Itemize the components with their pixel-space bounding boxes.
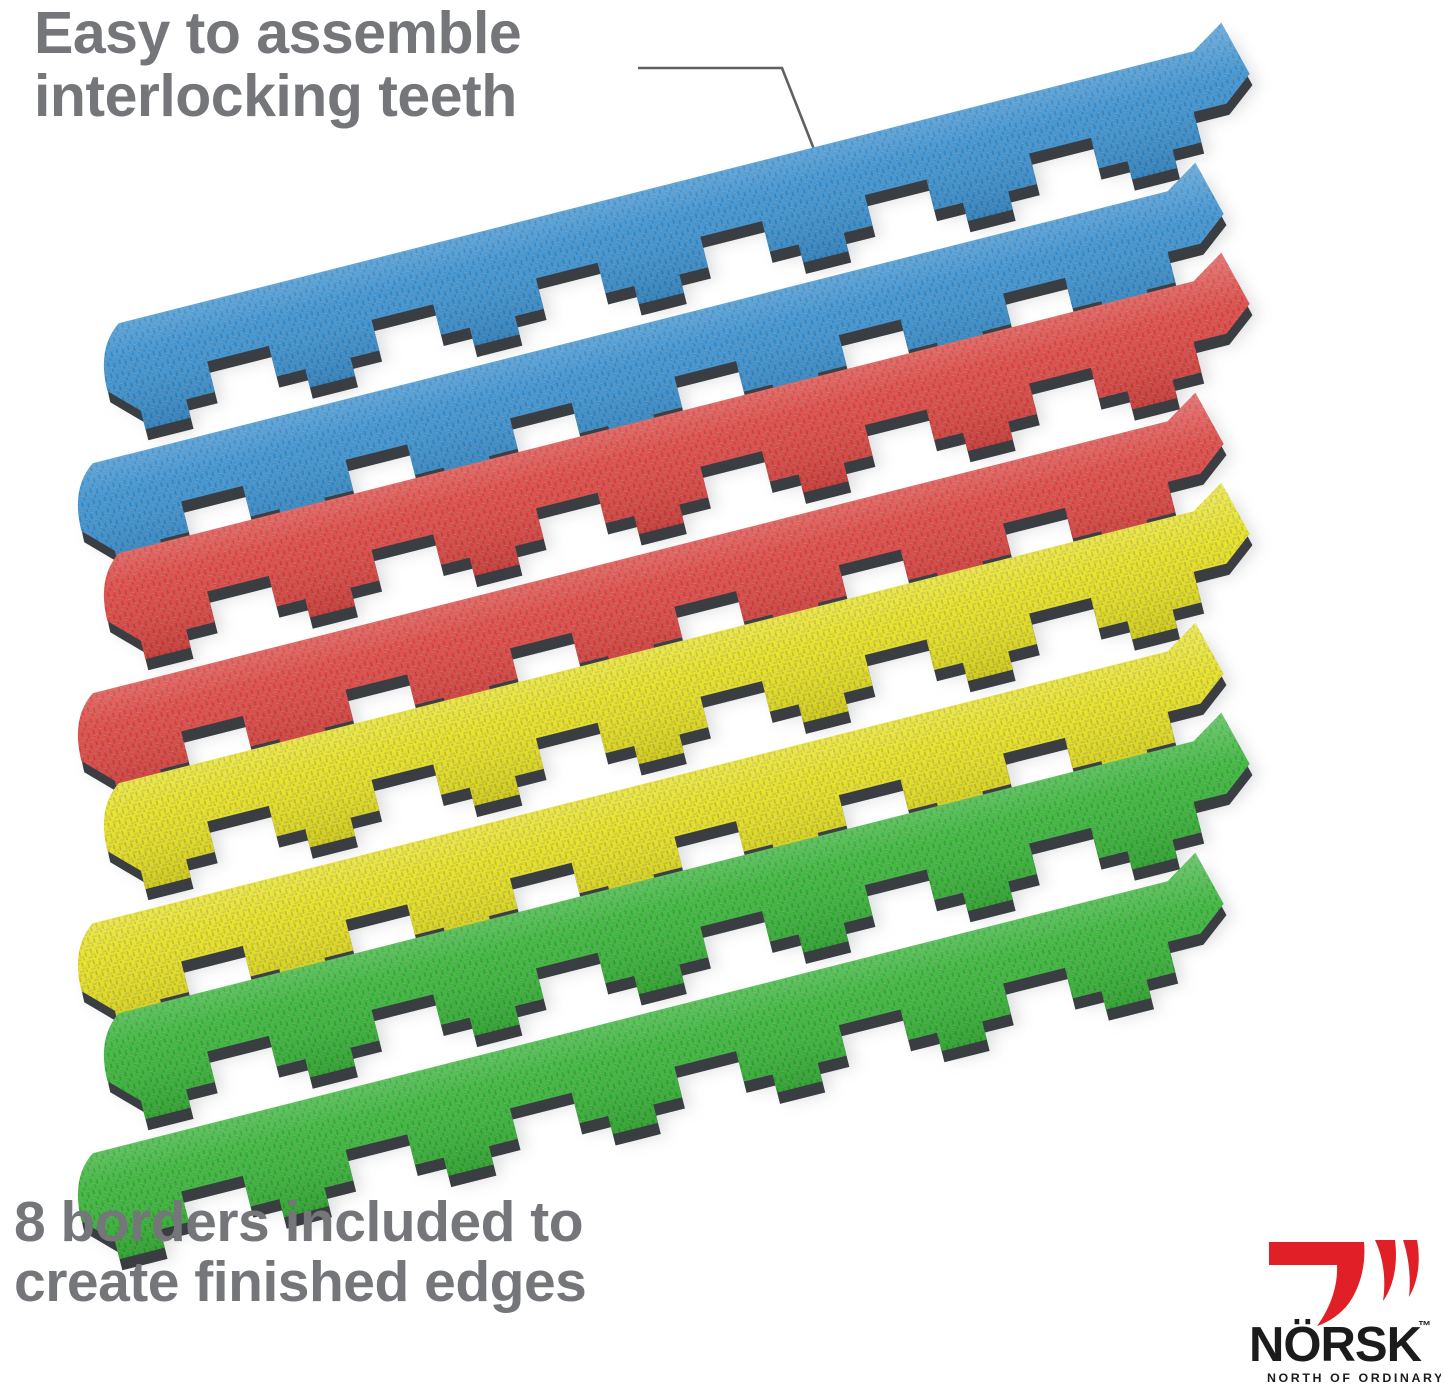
norsk-trademark-symbol: ™ xyxy=(1418,1318,1431,1333)
norsk-brand-logo: NÖRSK ™ NORTH OF ORDINARY xyxy=(1245,1229,1441,1389)
product-marketing-image: Easy to assemble interlocking teeth xyxy=(0,0,1445,1395)
foam-border-strips-illustration xyxy=(0,0,1445,1395)
norsk-swoosh-mark xyxy=(1269,1240,1419,1326)
norsk-tagline: NORTH OF ORDINARY xyxy=(1267,1371,1441,1385)
norsk-wordmark: NÖRSK xyxy=(1249,1318,1422,1372)
subline-callout-text: 8 borders included to create finished ed… xyxy=(14,1192,586,1313)
